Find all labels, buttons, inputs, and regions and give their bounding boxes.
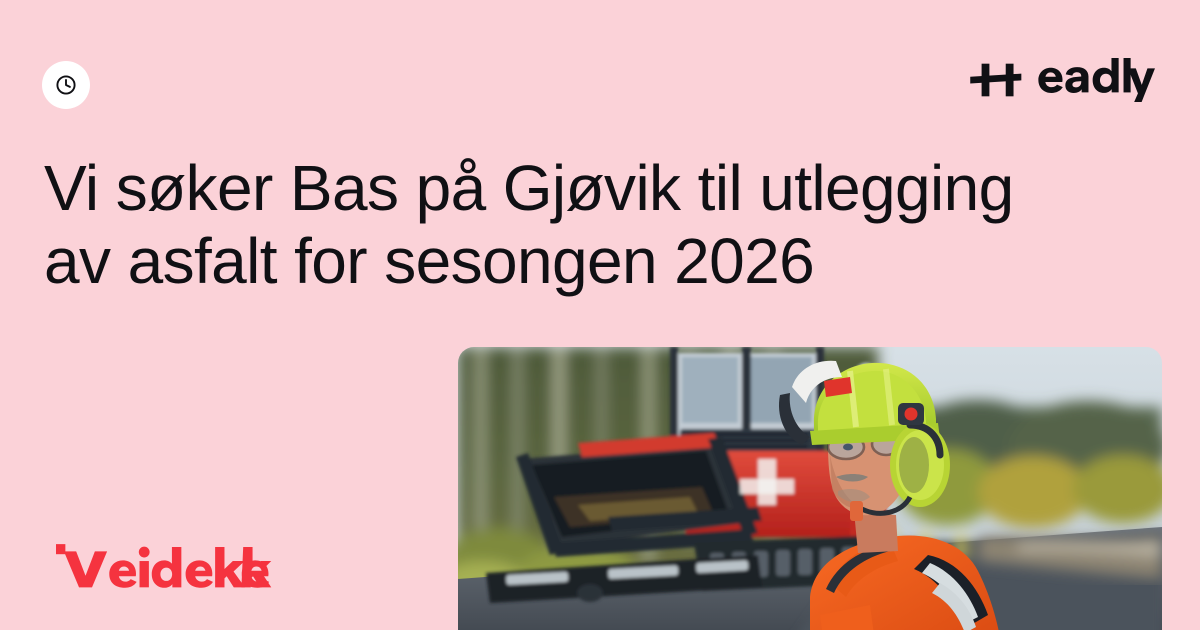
article-photo <box>458 347 1162 630</box>
headly-logo <box>970 58 1155 102</box>
clock-icon <box>54 73 78 97</box>
clock-badge <box>42 61 90 109</box>
veidekke-logo <box>56 537 272 593</box>
headline: Vi søker Bas på Gjøvik til utlegging av … <box>44 152 1074 298</box>
